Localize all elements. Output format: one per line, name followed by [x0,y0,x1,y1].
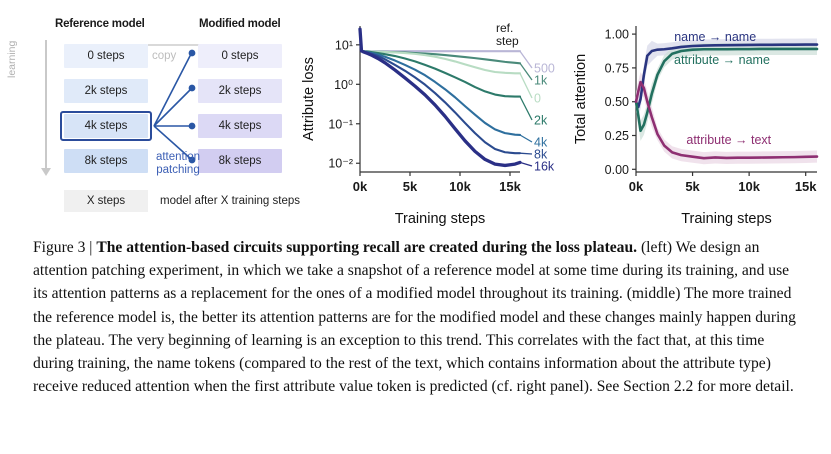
x-tick-label: 5k [685,179,700,194]
legend-label-0: 0 [534,92,541,106]
legend-leader-2k [520,97,532,121]
y-tick-label: 10¹ [335,38,353,52]
x-tick-label: 15k [795,179,817,194]
y-tick-label: 0.25 [605,129,629,143]
attention-patching-label-line1: attention [156,151,200,163]
legend-leader-8k [520,153,532,154]
x-axis-label: Training steps [395,211,486,227]
panel-total-attention-chart: 0.000.250.500.751.000k5k10k15kTraining s… [572,0,831,228]
series-label-name-name: name → name [674,30,756,44]
y-tick-label: 10⁻² [328,157,353,171]
y-tick-label: 0.75 [605,61,629,75]
confidence-band [636,72,817,164]
panel-attention-patching-diagram: Reference model Modified model learning … [0,0,300,228]
series-label-attribute-name: attribute → name [674,53,770,67]
y-tick-label: 10⁰ [334,78,353,92]
legend-label-2k: 2k [534,114,548,128]
attention-patching-label: attention patching [147,151,209,177]
legend-leader-16k [520,162,532,166]
legend-label-1k: 1k [534,74,548,88]
y-tick-label: 0.50 [605,95,629,109]
x-tick-label: 5k [403,179,418,194]
y-tick-label: 1.00 [605,28,629,42]
legend-leader-4k [520,135,532,142]
legend-label-16k: 16k [534,160,555,174]
x-tick-label: 10k [738,179,760,194]
series-label-attribute-text: attribute → text [686,133,771,147]
caption-bold-lead: The attention-based circuits supporting … [96,239,637,256]
y-tick-label: 10⁻¹ [328,117,353,131]
y-axis-label: Attribute loss [301,57,317,141]
figure-caption: Figure 3 | The attention-based circuits … [33,236,801,398]
y-tick-label: 0.00 [605,163,629,177]
y-axis-label: Total attention [573,54,589,144]
caption-prefix: Figure 3 | [33,239,96,256]
x-tick-label: 15k [499,179,521,194]
figure-row: Reference model Modified model learning … [0,0,831,228]
caption-body: (left) We design an attention patching e… [33,239,796,395]
x-tick-label: 0k [353,179,368,194]
x-axis-label: Training steps [681,211,772,227]
legend-title-line1: ref. [496,21,513,35]
figure-page: Reference model Modified model learning … [0,0,831,454]
panel-attribute-loss-chart: 10⁻²10⁻¹10⁰10¹0k5k10k15kTraining stepsAt… [300,0,572,228]
x-tick-label: 0k [629,179,644,194]
x-tick-label: 10k [449,179,471,194]
diagram-legend-text: model after X training steps [160,190,300,212]
diagram-legend-box: X steps [64,190,148,212]
legend-title-line2: step [496,34,519,48]
attention-patching-label-line2: patching [156,164,199,176]
